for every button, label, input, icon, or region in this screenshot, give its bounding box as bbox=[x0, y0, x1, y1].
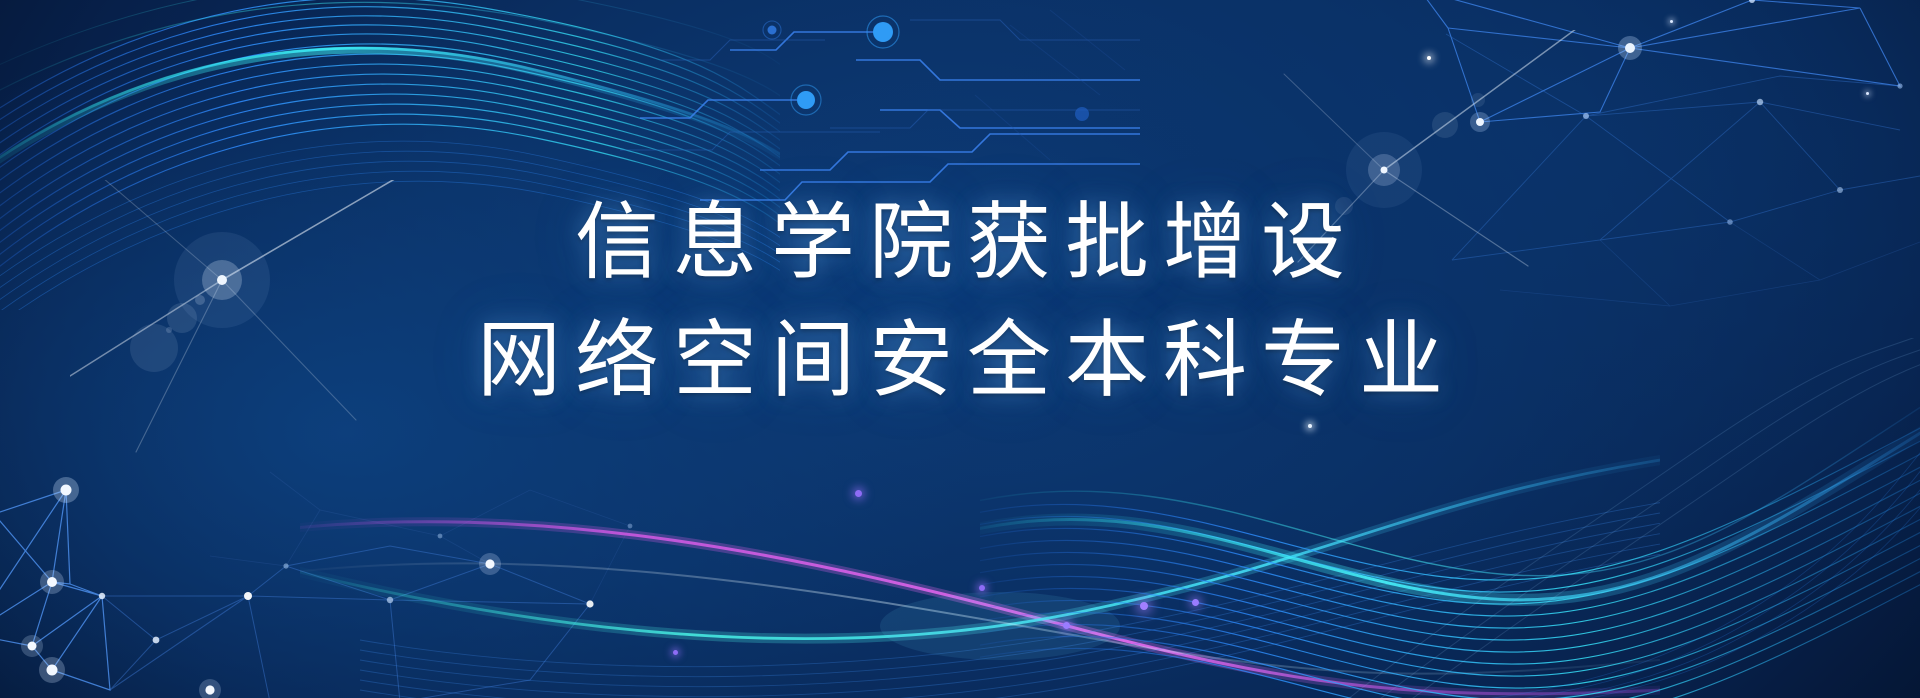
particle-violet bbox=[855, 490, 862, 497]
banner-hero: 信息学院获批增设 网络空间安全本科专业 bbox=[0, 0, 1920, 698]
banner-title: 信息学院获批增设 网络空间安全本科专业 bbox=[0, 185, 1920, 421]
particle-white bbox=[1308, 424, 1312, 428]
particle-white bbox=[1670, 20, 1673, 23]
title-line-2: 网络空间安全本科专业 bbox=[0, 303, 1920, 421]
particle-violet bbox=[1140, 602, 1148, 610]
particle-violet bbox=[673, 650, 678, 655]
particle-violet bbox=[1192, 599, 1199, 606]
particle-violet bbox=[979, 585, 985, 591]
title-line-1: 信息学院获批增设 bbox=[0, 185, 1920, 303]
particle-white bbox=[1427, 56, 1431, 60]
particle-white bbox=[1866, 92, 1869, 95]
particle-violet bbox=[1063, 622, 1070, 629]
